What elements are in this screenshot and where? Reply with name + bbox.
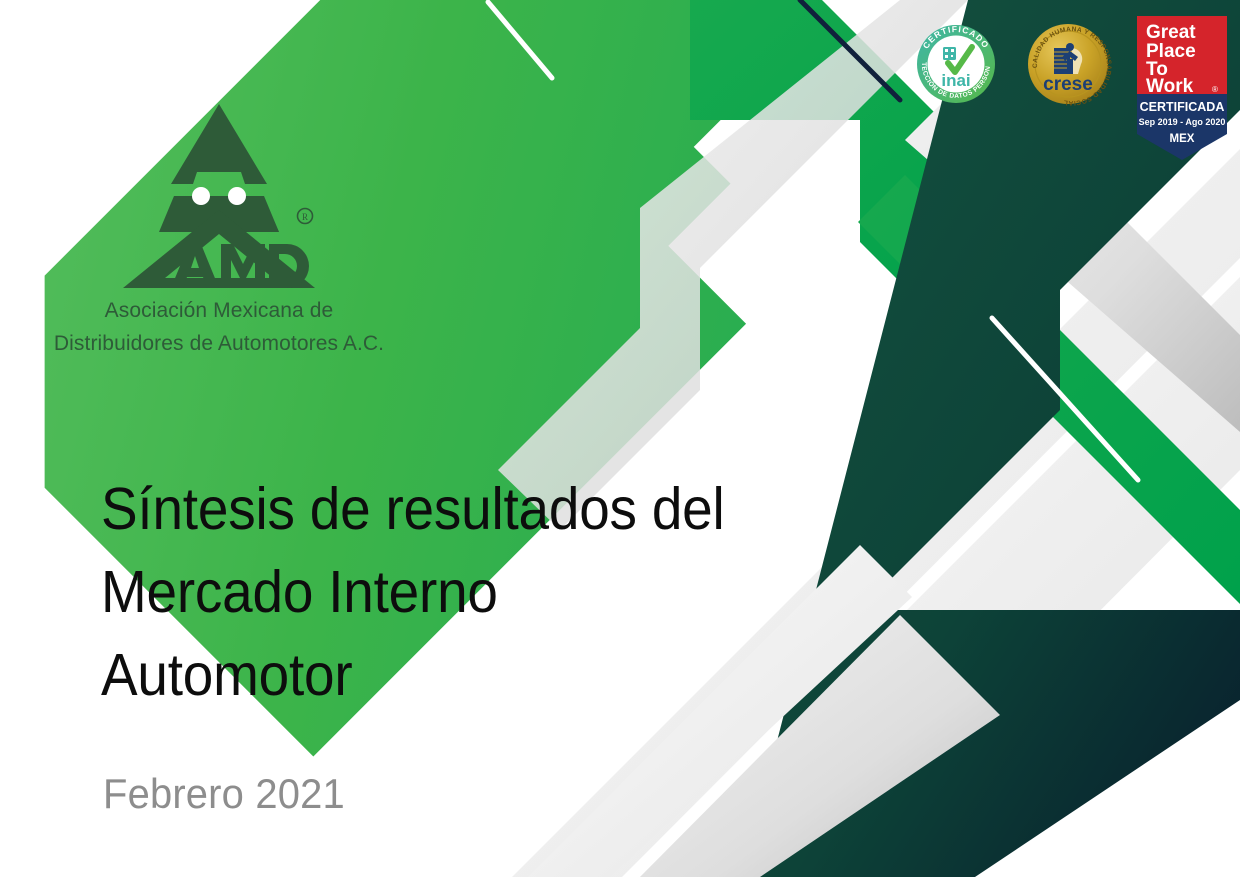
- slide-subtitle-date: Febrero 2021: [103, 768, 345, 820]
- svg-text:R: R: [302, 212, 308, 222]
- certification-badges: CERTIFICADO PROTECCIÓN DE DATOS PERSONAL…: [908, 14, 1232, 162]
- logo-tagline-line1: Asociación Mexicana de: [14, 296, 424, 325]
- inai-certification-badge: CERTIFICADO PROTECCIÓN DE DATOS PERSONAL…: [908, 14, 1004, 114]
- inai-wordmark: inai: [941, 71, 970, 90]
- logo-tagline-line2: Distribuidores de Automotores A.C.: [14, 329, 424, 358]
- crese-wordmark: crese: [1043, 74, 1093, 95]
- great-place-to-work-badge: Great Place To Work ® CERTIFICADA Sep 20…: [1132, 14, 1232, 162]
- gptw-country: MEX: [1170, 133, 1195, 145]
- title-line-3: Automotor: [101, 634, 808, 717]
- title-line-2: Mercado Interno: [101, 551, 808, 634]
- gptw-line1: Great: [1146, 22, 1196, 43]
- gptw-period: Sep 2019 - Ago 2020: [1139, 117, 1226, 127]
- gptw-registered-mark: ®: [1212, 85, 1218, 94]
- amda-triangle-mark: R: [119, 92, 319, 292]
- title-line-1: Síntesis de resultados del: [101, 468, 808, 551]
- gptw-certified-label: CERTIFICADA: [1140, 100, 1225, 114]
- slide-title: Síntesis de resultados del Mercado Inter…: [101, 468, 861, 717]
- gptw-line4: Work: [1146, 76, 1194, 97]
- crese-certification-badge: CERTIFICADO DE CALIDAD HUMANA Y RESPONSA…: [1020, 14, 1116, 114]
- amda-logo: R Asociación Mexicana de Distribuidores …: [14, 92, 424, 358]
- presentation-slide: R Asociación Mexicana de Distribuidores …: [0, 0, 1240, 877]
